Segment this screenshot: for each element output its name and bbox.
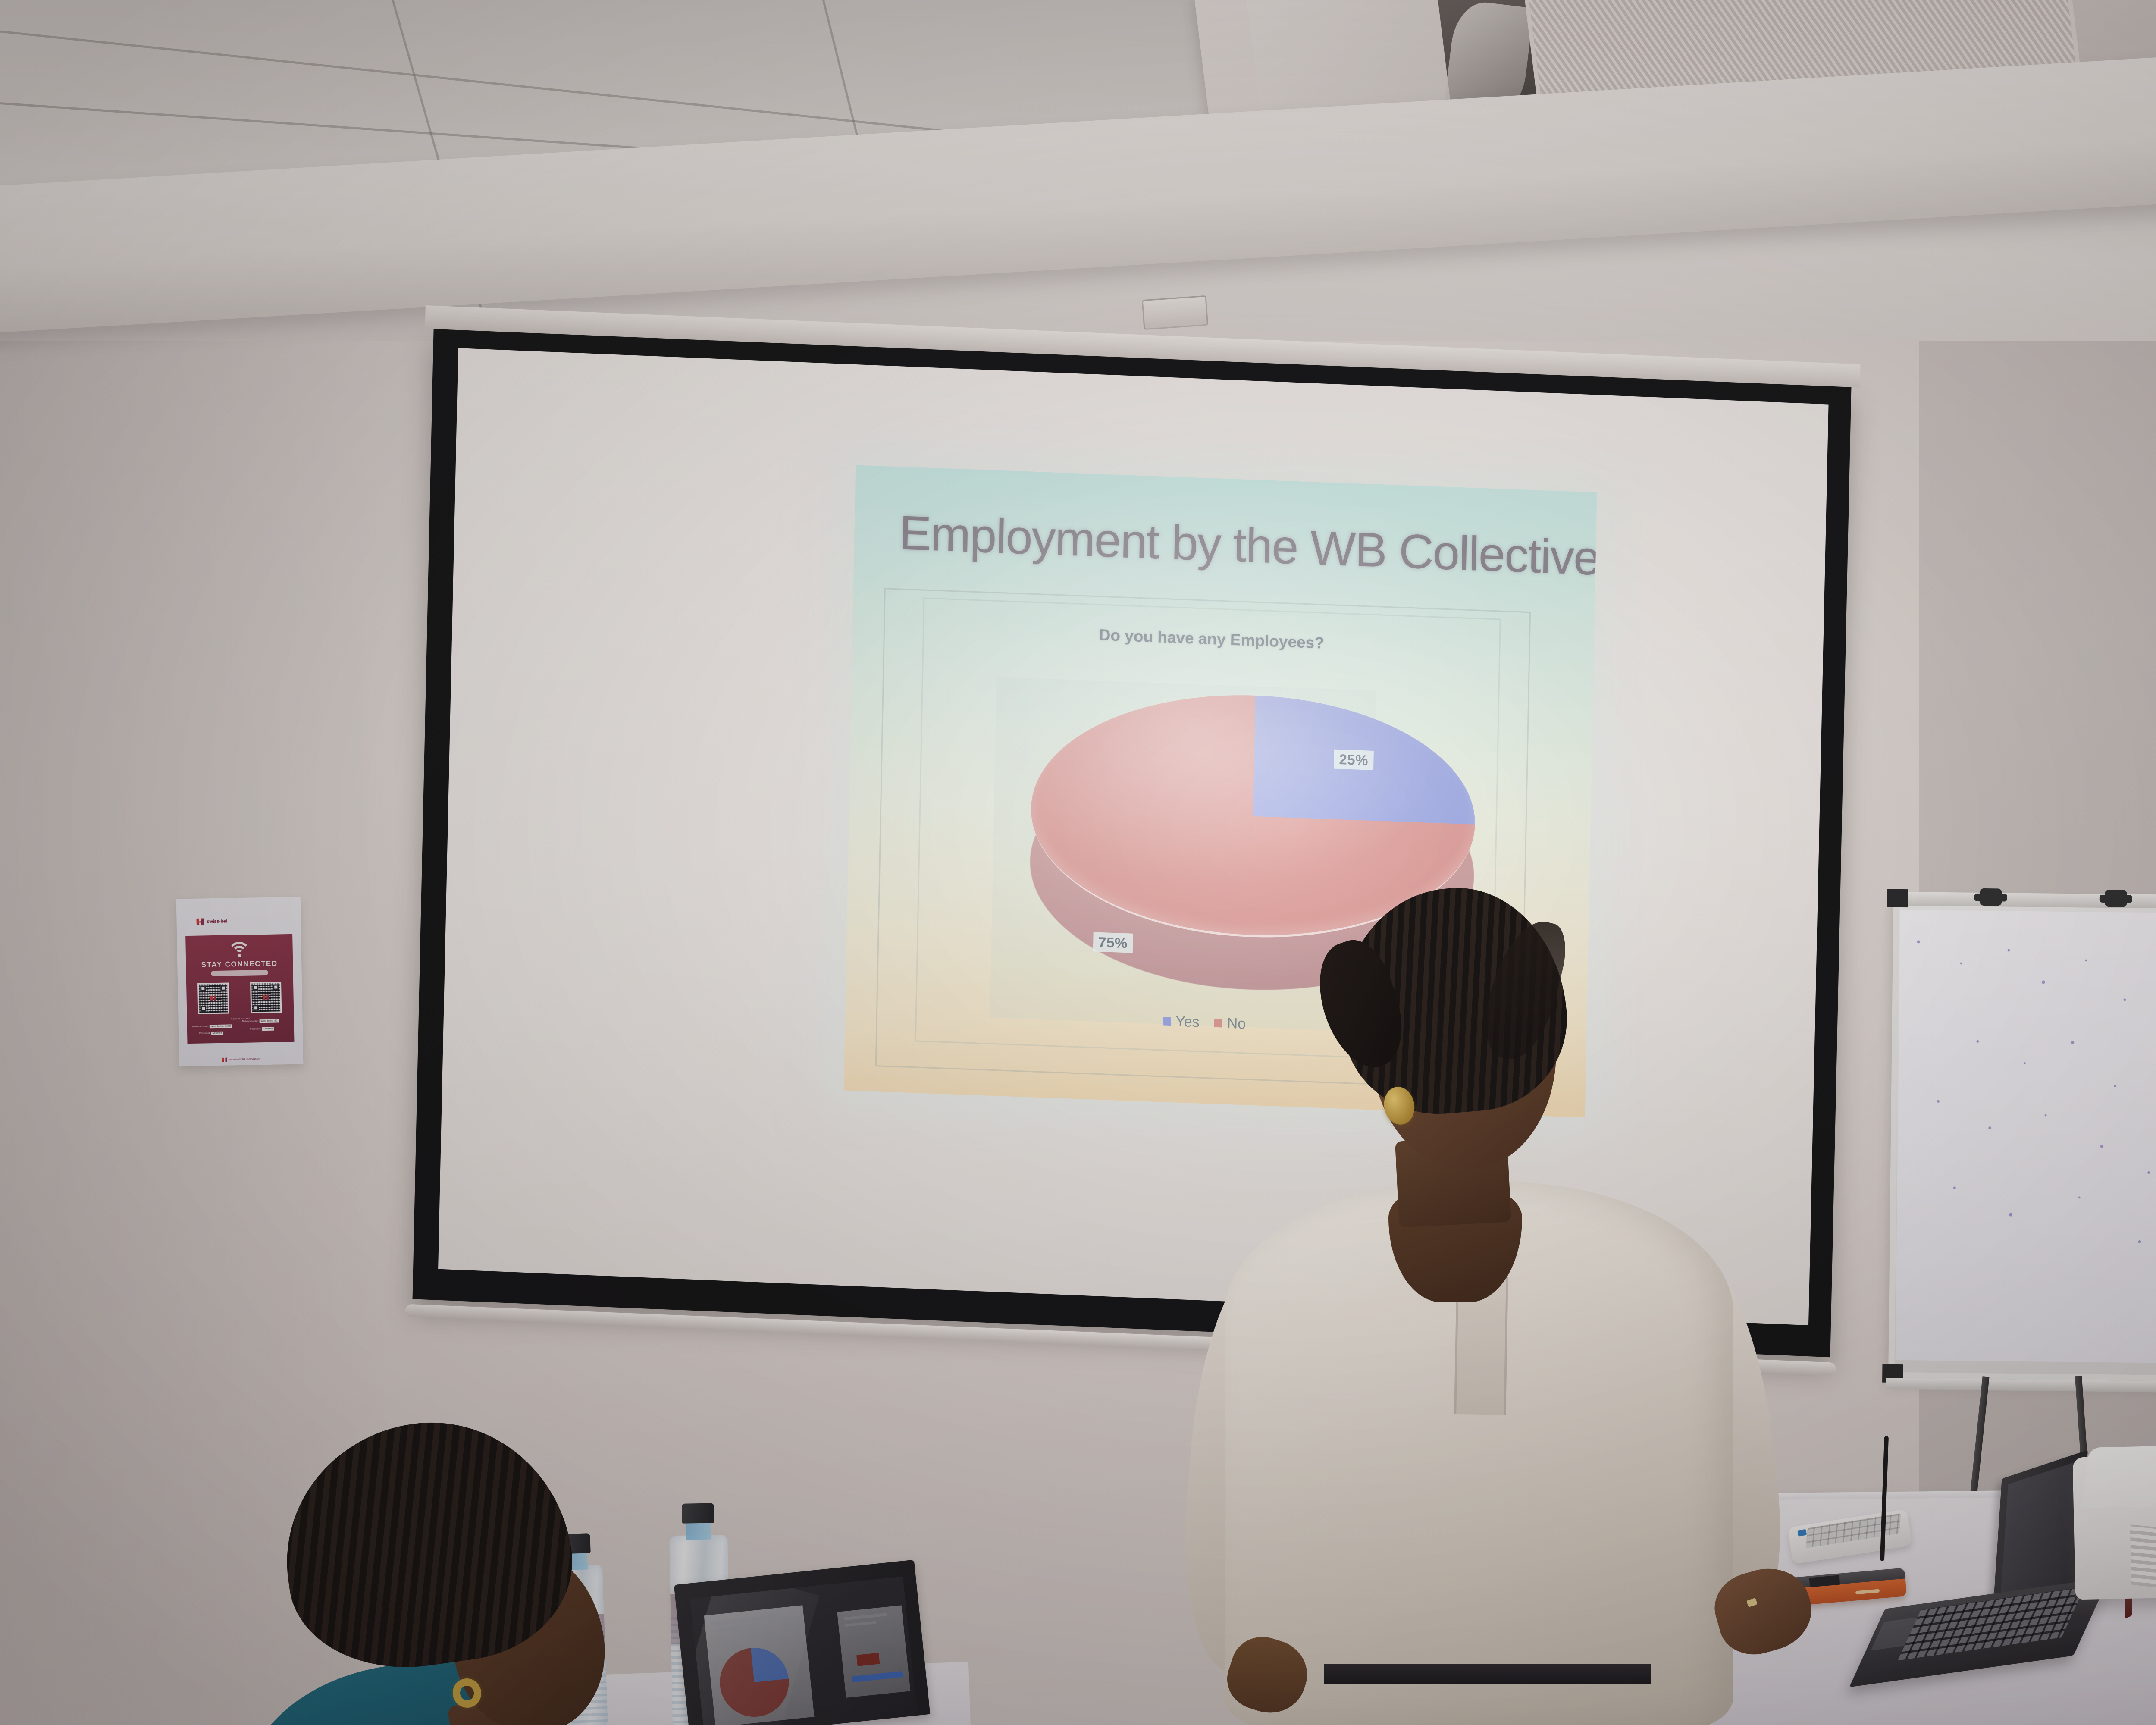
slide-title: Employment by the WB Collectives [899, 505, 1572, 585]
presenter-waistband [1324, 1664, 1651, 1684]
poster-panel: STAY CONNECTED Scan to connect Network N… [185, 934, 294, 1044]
flipchart-knob-left[interactable] [1980, 888, 2002, 906]
wifi-icon [227, 941, 251, 958]
poster-network-label-1: Network Name: [192, 1025, 209, 1028]
legend-item-yes: Yes [1163, 1013, 1200, 1031]
bottle-cap-right[interactable] [682, 1503, 714, 1523]
poster-footer: swiss-belhotel international [179, 1056, 303, 1063]
footer-logo-icon [222, 1058, 227, 1062]
projector-top-face: EPSON [2081, 1440, 2156, 1508]
qr-logo-icon [210, 995, 216, 1001]
poster-network-label-2: Network Name: [242, 1020, 259, 1023]
poster-network-value-1: swiss-belinn-Guest [210, 1024, 232, 1028]
wifi-poster: swiss-bel STAY CONNECTED [176, 897, 304, 1066]
poster-brand: swiss-bel [196, 916, 282, 926]
poster-password-label-1: Password: [199, 1032, 210, 1035]
poster-brand-text: swiss-bel [207, 919, 227, 924]
chart-title: Do you have any Employees? [924, 620, 1499, 659]
participant-laptop-screen[interactable] [690, 1577, 917, 1725]
flipchart-paper[interactable] [1896, 910, 2156, 1364]
pie-label-yes: 25% [1334, 750, 1373, 770]
hotel-logo-icon [196, 918, 204, 925]
poster-network-value-2: swiss-belinn-5G [259, 1019, 279, 1023]
seated-participant [267, 1423, 664, 1725]
qr-code-secondary [250, 982, 282, 1013]
poster-network-2: Network Name:swiss-belinn-5G [242, 1019, 279, 1022]
flipchart-corner-tl [1887, 889, 1908, 908]
qr-logo-icon-2 [263, 994, 269, 1000]
poster-subtitle-pill [211, 970, 268, 976]
flipchart-knob-right[interactable] [2105, 890, 2127, 907]
laptop-slide-thumbnail-side[interactable] [837, 1605, 910, 1698]
projector[interactable]: EPSON [2072, 1432, 2156, 1626]
poster-network-1: Network Name:swiss-belinn-Guest [192, 1025, 232, 1028]
poster-password-1: Password:welcome [199, 1032, 223, 1035]
poster-password-value-1: welcome [211, 1032, 223, 1035]
legend-label-yes: Yes [1175, 1013, 1200, 1031]
projector-body: EPSON [2072, 1449, 2156, 1600]
legend-swatch-yes [1163, 1017, 1171, 1026]
poster-footer-text: swiss-belhotel international [229, 1058, 260, 1061]
participant-laptop[interactable] [674, 1560, 931, 1725]
poster-password-label-2: Password: [250, 1028, 261, 1030]
flipchart-whiteboard [1888, 895, 2156, 1382]
standing-presenter [1216, 862, 1889, 1725]
poster-password-2: Password:welcome [250, 1028, 274, 1031]
pie-label-no: 75% [1093, 932, 1133, 953]
laptop-keyboard[interactable] [1898, 1587, 2085, 1661]
conference-room-scene: Employment by the WB Collectives Do you … [0, 0, 2156, 1725]
poster-password-value-2: welcome [262, 1027, 274, 1031]
ceiling-light-fitting [1142, 295, 1209, 330]
projector-vents [2130, 1524, 2156, 1593]
qr-code-primary [197, 982, 229, 1014]
poster-headline: STAY CONNECTED [186, 959, 293, 969]
